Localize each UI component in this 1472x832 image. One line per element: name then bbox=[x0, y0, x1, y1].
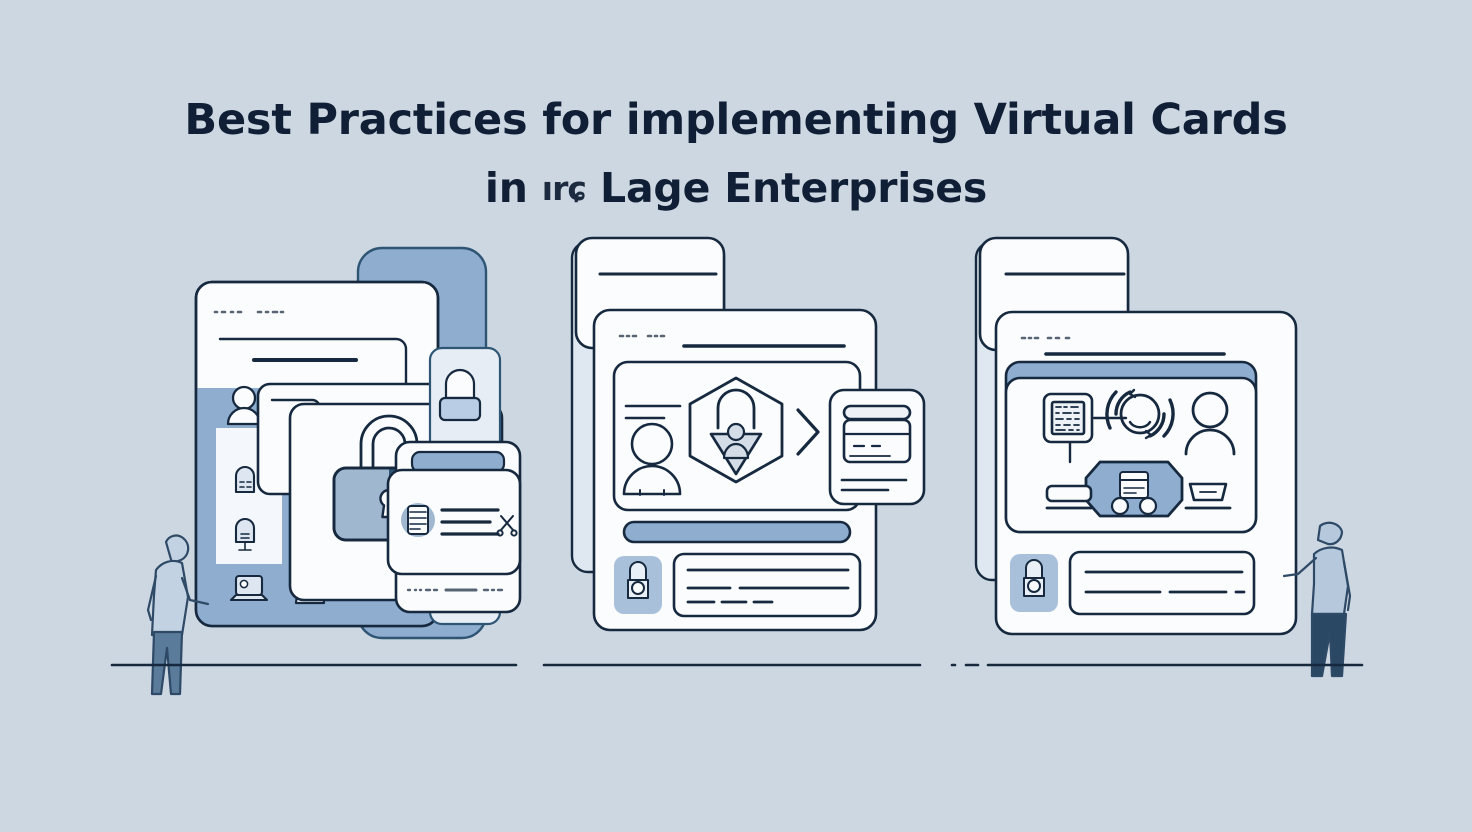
title-garbled-word: ırɕ bbox=[542, 169, 586, 208]
ground-lines bbox=[0, 232, 1472, 692]
page-title: Best Practices for implementing Virtual … bbox=[0, 86, 1472, 225]
illustration-group bbox=[0, 232, 1472, 692]
title-line-2: in ırɕ Lage Enterprises bbox=[0, 154, 1472, 225]
illustration-canvas: Best Practices for implementing Virtual … bbox=[0, 0, 1472, 832]
title-line-2-prefix: in bbox=[485, 164, 528, 212]
title-line-2-suffix: Lage Enterprises bbox=[600, 164, 987, 212]
title-line-1: Best Practices for implementing Virtual … bbox=[0, 86, 1472, 154]
